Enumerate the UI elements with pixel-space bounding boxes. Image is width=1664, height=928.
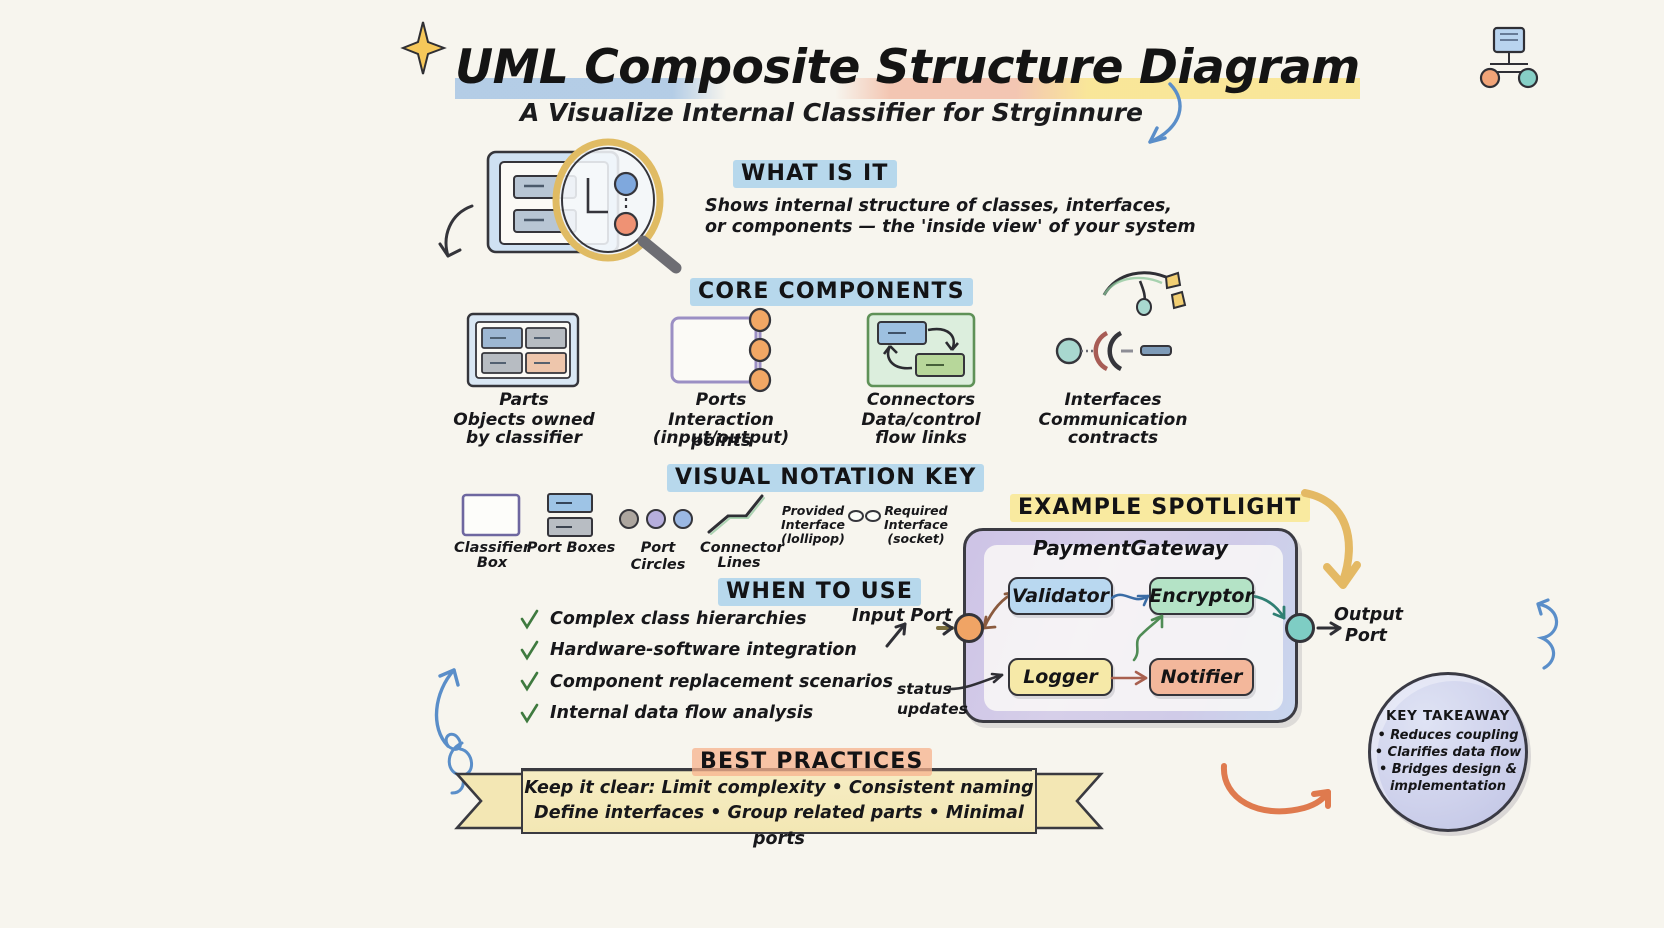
best-practices-heading: BEST PRACTICES	[692, 748, 932, 776]
best-practices-line1: Keep it clear: Limit complexity • Consis…	[521, 776, 1037, 801]
curved-arrow-left-icon	[430, 200, 485, 275]
check-icon	[520, 640, 539, 661]
part-node-label-3: Notifier	[1161, 666, 1243, 688]
status-updates-label-line2: updates	[897, 700, 968, 720]
port-circles-icon	[618, 505, 696, 533]
connector-line-icon	[706, 492, 768, 538]
key-takeaway-item-1: • Clarifies data flow	[1375, 745, 1522, 762]
notation-label-1-1: Port Boxes	[526, 540, 616, 557]
part-node-label-1: Encryptor	[1149, 585, 1254, 607]
banner-tail-right-icon	[1033, 772, 1103, 830]
when-to-use-item-2: Component replacement scenarios	[520, 671, 900, 693]
core-component-desc2-2: flow links	[840, 428, 1002, 449]
status-updates-label-line1: status	[897, 680, 952, 700]
core-components-heading: CORE COMPONENTS	[690, 278, 973, 306]
when-to-use-item-label-0: Complex class hierarchies	[550, 608, 807, 630]
ports-box-icon	[668, 308, 788, 392]
connector-encryptor-to-outputport-icon	[1248, 592, 1290, 626]
when-to-use-list: Complex class hierarchies Hardware-softw…	[520, 608, 900, 734]
best-practices-banner: Keep it clear: Limit complexity • Consis…	[455, 768, 1103, 834]
when-to-use-item-label-3: Internal data flow analysis	[550, 702, 813, 724]
port-boxes-icon	[546, 492, 596, 540]
interface-socket-icon	[1055, 325, 1175, 377]
page-title-text: UML Composite Structure Diagram	[455, 40, 1360, 99]
key-takeaway-item-2: • Bridges design &	[1379, 762, 1517, 779]
when-to-use-heading: WHEN TO USE	[718, 578, 921, 606]
curved-arrow-down-right-icon	[1110, 80, 1200, 165]
parts-grid-icon	[466, 312, 580, 388]
part-node-label-0: Validator	[1012, 585, 1109, 607]
when-to-use-item-3: Internal data flow analysis	[520, 702, 900, 724]
infographic-canvas: UML Composite Structure Diagram A Visual…	[0, 0, 1664, 928]
connector-logger-to-notifier-icon	[1108, 663, 1156, 693]
notation-label-2-1: Port Circles	[612, 540, 704, 573]
classifier-box-icon	[461, 493, 523, 539]
notation-label-0-2: Box	[448, 555, 536, 572]
core-component-desc2-1: (input/output)	[640, 428, 802, 449]
curved-arrow-orange-icon	[1218, 750, 1348, 830]
banner-tail-left-icon	[455, 772, 525, 830]
connector-logger-to-encryptor-icon	[1128, 608, 1176, 664]
core-component-desc2-0: by classifier	[443, 428, 605, 449]
input-port-marker[interactable]	[954, 613, 984, 643]
what-is-it-heading: WHAT IS IT	[733, 160, 897, 188]
notation-label-3-2: Lines	[700, 555, 778, 572]
sparkle-icon	[400, 18, 446, 78]
output-port-marker[interactable]	[1285, 613, 1315, 643]
check-icon	[520, 671, 539, 692]
spotlight-classifier-name: PaymentGateway	[963, 536, 1298, 560]
key-takeaway-item-0: • Reduces coupling	[1377, 728, 1518, 745]
check-icon	[520, 703, 539, 724]
key-takeaway-heading: KEY TAKEAWAY	[1386, 708, 1510, 724]
required-interface-socket-icon	[848, 508, 882, 524]
part-node-label-2: Logger	[1023, 666, 1098, 688]
notation-label-5-3: (socket)	[882, 532, 950, 546]
when-to-use-item-1: Hardware-software integration	[520, 639, 900, 661]
core-component-desc2-3: contracts	[1030, 428, 1196, 449]
notation-label-4-3: (lollipop)	[780, 532, 846, 546]
page-title: UML Composite Structure Diagram	[455, 40, 1155, 95]
core-component-title-0: Parts	[453, 390, 595, 411]
part-node-validator[interactable]: Validator	[1008, 577, 1113, 615]
when-to-use-item-0: Complex class hierarchies	[520, 608, 900, 630]
when-to-use-item-label-2: Component replacement scenarios	[550, 671, 893, 693]
input-port-tick-icon	[885, 622, 917, 650]
what-is-it-line2: or components — the 'inside view' of you…	[705, 216, 1196, 238]
curved-arrow-right-icon	[1528, 594, 1572, 674]
key-takeaway-item-3: implementation	[1390, 779, 1506, 796]
node-graph-logo-icon	[1478, 26, 1540, 98]
key-takeaway-circle: KEY TAKEAWAY • Reduces coupling • Clarif…	[1368, 672, 1528, 832]
output-port-label-line1: Output	[1334, 604, 1403, 626]
core-component-title-2: Connectors	[848, 390, 994, 411]
core-component-title-1: Ports	[650, 390, 792, 411]
curved-arrow-squiggle-icon	[1100, 265, 1190, 320]
banner-text: Keep it clear: Limit complexity • Consis…	[521, 776, 1037, 852]
check-icon	[520, 609, 539, 630]
connectors-arrows-icon	[866, 312, 976, 388]
example-spotlight-heading: EXAMPLE SPOTLIGHT	[1010, 494, 1310, 522]
curved-arrow-down-icon	[1295, 485, 1385, 615]
output-port-label-line2: Port	[1345, 625, 1387, 647]
when-to-use-item-label-1: Hardware-software integration	[550, 639, 857, 661]
what-is-it-line1: Shows internal structure of classes, int…	[705, 195, 1172, 217]
best-practices-line2: Define interfaces • Group related parts …	[521, 801, 1037, 852]
visual-notation-key-heading: VISUAL NOTATION KEY	[667, 464, 984, 492]
part-node-logger[interactable]: Logger	[1008, 658, 1113, 696]
page-subtitle: A Visualize Internal Classifier for Strg…	[520, 98, 1160, 127]
magnifier-over-class-icon	[480, 140, 710, 270]
connector-status-to-logger-icon	[948, 655, 1014, 695]
core-component-title-3: Interfaces	[1040, 390, 1186, 411]
